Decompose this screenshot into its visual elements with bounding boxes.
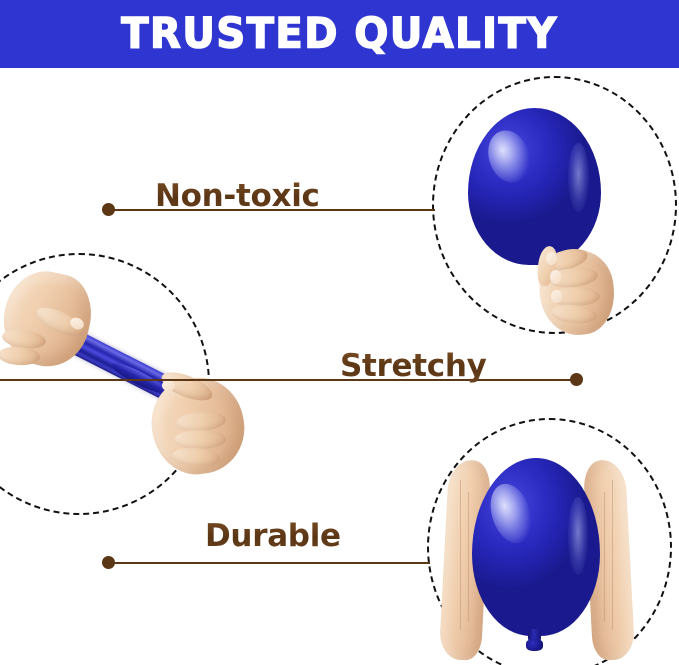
- fingernail: [162, 380, 175, 391]
- connector-dot-stretchy: [570, 373, 583, 386]
- balloon-highlight: [484, 478, 539, 547]
- feature-label-stretchy: Stretchy: [340, 348, 487, 384]
- header-banner: TRUSTED QUALITY: [0, 0, 679, 68]
- fingernail: [551, 290, 562, 303]
- balloon-side-highlight: [568, 143, 589, 212]
- balloon-shape: [468, 108, 601, 265]
- balloon-shape: [472, 458, 600, 636]
- hand-crease: [604, 492, 605, 622]
- hand-crease: [460, 480, 461, 630]
- balloon-knot: [526, 639, 543, 651]
- fingernail: [550, 270, 561, 284]
- connector-dot-durable: [102, 556, 115, 569]
- balloon-side-highlight: [568, 497, 588, 575]
- feature-label-durable: Durable: [205, 518, 341, 554]
- connector-line-stretchy: [0, 379, 577, 381]
- connector-line-durable: [110, 562, 430, 564]
- feature-label-non-toxic: Non-toxic: [155, 178, 320, 214]
- fingernail: [546, 252, 557, 265]
- balloon-highlight: [482, 125, 536, 188]
- hand-crease: [468, 492, 469, 622]
- hand-crease: [612, 480, 613, 630]
- page-title: TRUSTED QUALITY: [121, 13, 557, 55]
- product-feature-infographic: TRUSTED QUALITY Non-toxic: [0, 0, 679, 665]
- finger: [174, 430, 226, 449]
- connector-dot-non-toxic: [102, 203, 115, 216]
